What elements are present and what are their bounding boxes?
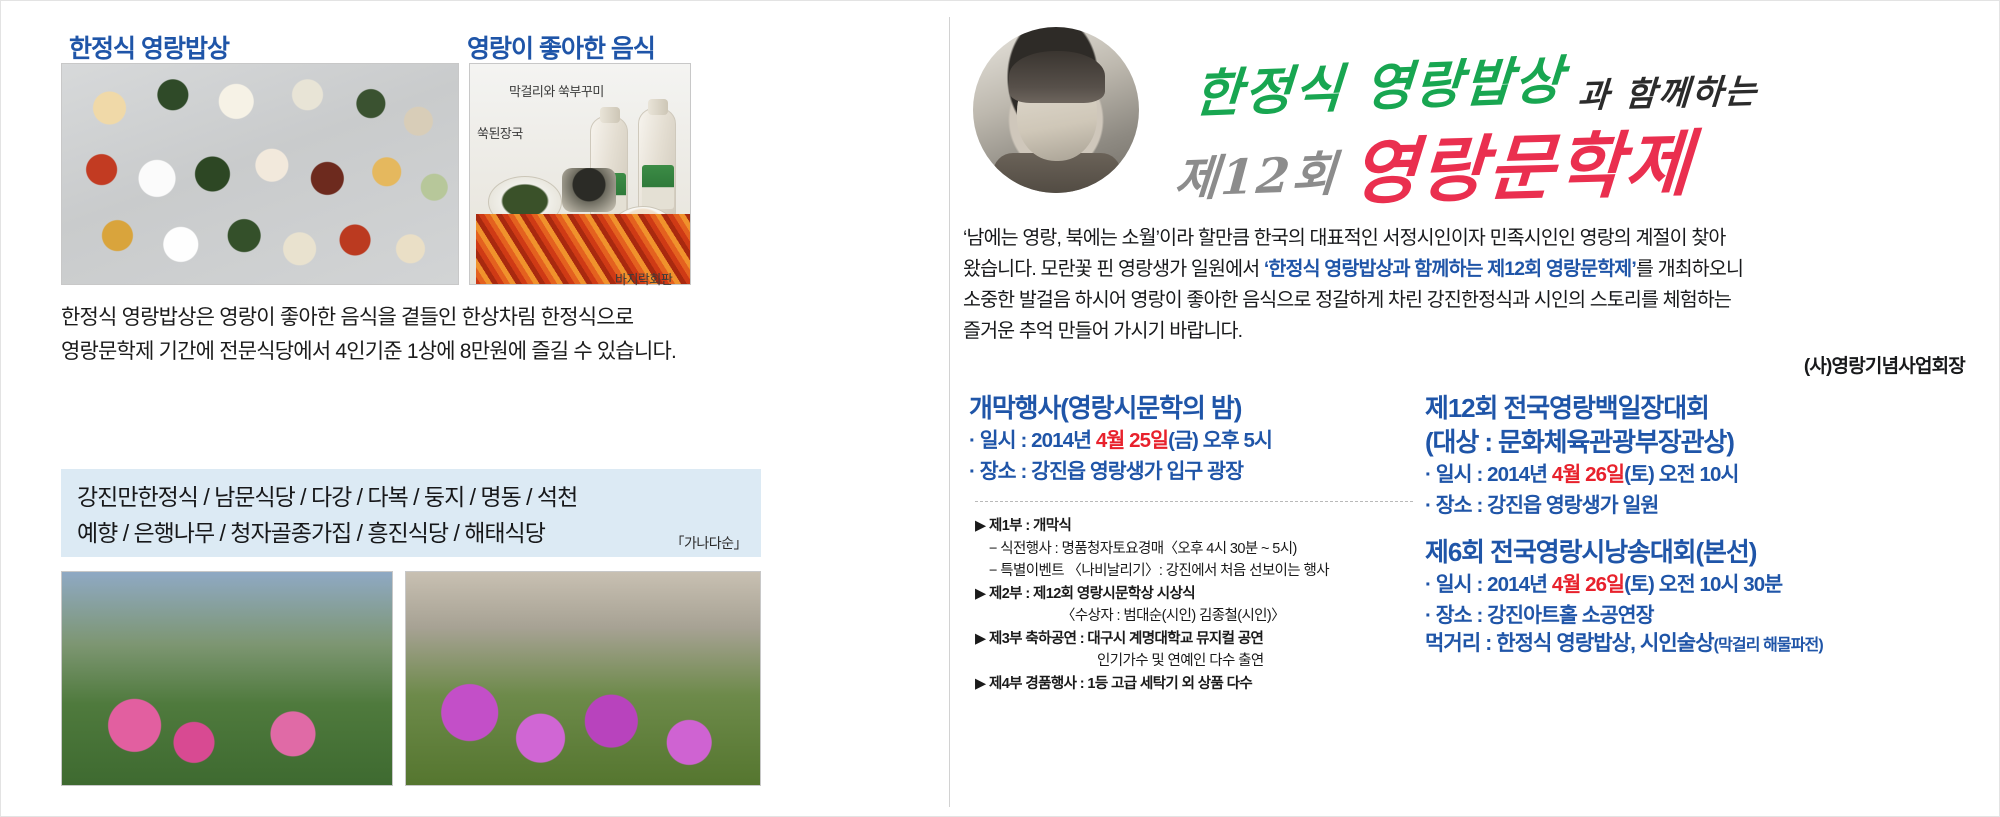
recital-event-title: 제6회 전국영랑시낭송대회(본선): [1425, 535, 1981, 569]
heading-favorite-food: 영랑이 좋아한 음식: [467, 29, 655, 65]
events-column-right: 제12회 전국영랑백일장대회 (대상 : 문화체육관광부장관상) · 일시 : …: [1425, 391, 1981, 631]
program-item: 〈수상자 : 범대순(시인) 김종철(시인)〉: [975, 605, 1427, 628]
portrait-hair: [1009, 51, 1105, 103]
contest-datetime-prefix: · 일시 : 2014년: [1425, 463, 1552, 486]
restaurant-list-box: 강진만한정식 / 남문식당 / 다강 / 다복 / 둥지 / 명동 / 석천 예…: [61, 469, 761, 557]
ssuk-pancake-icon: [562, 168, 616, 212]
food-note-main: 먹거리 : 한정식 영랑밥상, 시인술상: [1425, 632, 1714, 655]
intro-line-2-suffix: 를 개최하오니: [1636, 258, 1743, 280]
program-item: 인기가수 및 연예인 다수 출연: [975, 650, 1427, 673]
program-item: − 특별이벤트 〈나비날리기〉: 강진에서 처음 선보이는 행사: [975, 560, 1427, 583]
contest-datetime-suffix: (토) 오전 10시: [1624, 463, 1738, 486]
festival-title-ordinal: 제12회: [1172, 134, 1341, 210]
intro-line-3: 소중한 발걸음 하시어 영랑이 좋아한 음식으로 정갈하게 차린 강진한정식과 …: [963, 285, 1985, 316]
program-item: − 식전행사 : 명품청자토요경매〈오후 4시 30분 ~ 5시): [975, 538, 1427, 561]
opening-datetime-prefix: · 일시 : 2014년: [969, 429, 1096, 452]
intro-paragraph-block: ‘남에는 영랑, 북에는 소월’이라 할만큼 한국의 대표적인 서정시인이자 민…: [963, 223, 1985, 347]
intro-line-2-prefix: 왔습니다. 모란꽃 핀 영랑생가 일원에서: [963, 258, 1264, 280]
recital-datetime-prefix: · 일시 : 2014년: [1425, 573, 1552, 596]
caption-makgeolli: 막걸리와 쑥부꾸미: [509, 81, 604, 100]
left-panel: 한정식 영랑밥상 영랑이 좋아한 음식 막걸리와 쑥부꾸미 쑥된장국 바지락회판…: [1, 1, 971, 817]
organization-signature: (사)영랑기념사업회장: [1804, 351, 1965, 378]
program-item: ▶ 제2부 : 제12회 영랑시문학상 시상식: [975, 583, 1427, 606]
opening-event-venue: · 장소 : 강진읍 영랑생가 입구 광장: [969, 456, 1419, 487]
recital-datetime-date: 4월 26일: [1552, 573, 1624, 596]
program-item: ▶ 제4부 경품행사 : 1등 고급 세탁기 외 상품 다수: [975, 673, 1427, 696]
contest-event-datetime: · 일시 : 2014년 4월 26일(토) 오전 10시: [1425, 459, 1981, 490]
program-list: ▶ 제1부 : 개막식 − 식전행사 : 명품청자토요경매〈오후 4시 30분 …: [975, 515, 1427, 695]
opening-datetime-suffix: (금) 오후 5시: [1168, 429, 1272, 452]
description-block: 한정식 영랑밥상은 영랑이 좋아한 음식을 곁들인 한상차림 한정식으로 영랑문…: [61, 301, 761, 369]
intro-line-1-text: ‘남에는 영랑, 북에는 소월’이라 할만큼 한국의 대표적인 서정시인이자 민…: [963, 227, 1725, 249]
intro-line-4: 즐거운 추억 만들어 가시기 바랍니다.: [963, 316, 1985, 347]
festival-title-block: 한정식 영랑밥상과 함께하는 제12회영랑문학제: [1157, 31, 1987, 201]
opening-event-title: 개막행사(영랑시문학의 밤): [969, 391, 1419, 425]
contest-event-venue: · 장소 : 강진읍 영랑생가 일원: [1425, 490, 1981, 521]
festival-title-line-2: 제12회영랑문학제: [1175, 109, 1693, 214]
intro-line-1: ‘남에는 영랑, 북에는 소월’이라 할만큼 한국의 대표적인 서정시인이자 민…: [963, 223, 1985, 254]
intro-highlight-festival-name: ‘한정식 영랑밥상과 함께하는 제12회 영랑문학제’: [1264, 258, 1636, 280]
photo-korean-table-spread: [61, 63, 459, 285]
contest-event-title-line-2: (대상 : 문화체육관광부장관상): [1425, 425, 1981, 459]
contest-datetime-date: 4월 26일: [1552, 463, 1624, 486]
events-column-left: 개막행사(영랑시문학의 밤) · 일시 : 2014년 4월 25일(금) 오후…: [969, 391, 1419, 487]
restaurant-list-line-2: 예향 / 은행나무 / 청자골종가집 / 흥진식당 / 해태식당: [77, 515, 745, 551]
contest-event-title-line-1: 제12회 전국영랑백일장대회: [1425, 391, 1981, 425]
food-note-detail: (막걸리 해물파전): [1714, 637, 1823, 654]
recital-datetime-suffix: (토) 오전 10시 30분: [1624, 573, 1782, 596]
right-panel: 한정식 영랑밥상과 함께하는 제12회영랑문학제 ‘남에는 영랑, 북에는 소월…: [957, 1, 2000, 817]
photo-festival-garden: [61, 571, 393, 786]
description-line-1: 한정식 영랑밥상은 영랑이 좋아한 음식을 곁들인 한상차림 한정식으로: [61, 301, 761, 335]
caption-bajirak: 바지락회판: [615, 269, 672, 288]
program-item: ▶ 제3부 축하공연 : 대구시 계명대학교 뮤지컬 공연: [975, 628, 1427, 651]
opening-event-datetime: · 일시 : 2014년 4월 25일(금) 오후 5시: [969, 425, 1419, 456]
festival-poster: 한정식 영랑밥상 영랑이 좋아한 음식 막걸리와 쑥부꾸미 쑥된장국 바지락회판…: [0, 0, 2000, 817]
panel-divider: [949, 17, 950, 807]
restaurant-list-line-1: 강진만한정식 / 남문식당 / 다강 / 다복 / 둥지 / 명동 / 석천: [77, 479, 745, 515]
festival-title-red-text: 영랑문학제: [1349, 105, 1697, 219]
description-line-2: 영랑문학제 기간에 전문식당에서 4인기준 1상에 8만원에 즐길 수 있습니다…: [61, 335, 761, 369]
caption-doenjang: 쑥된장국: [477, 123, 523, 142]
program-item: ▶ 제1부 : 개막식: [975, 515, 1427, 538]
opening-datetime-date: 4월 25일: [1096, 429, 1168, 452]
section-dashed-divider: [975, 501, 1413, 502]
heading-hanjeongsik: 한정식 영랑밥상: [69, 29, 229, 65]
intro-line-2: 왔습니다. 모란꽃 핀 영랑생가 일원에서 ‘한정식 영랑밥상과 함께하는 제1…: [963, 254, 1985, 285]
recital-event-datetime: · 일시 : 2014년 4월 26일(토) 오전 10시 30분: [1425, 569, 1981, 600]
poet-portrait-photo: [973, 27, 1139, 193]
food-availability-note: 먹거리 : 한정식 영랑밥상, 시인술상(막걸리 해물파전): [1425, 627, 1823, 657]
restaurant-order-note: 「가나다순」: [670, 533, 747, 553]
photo-festival-visitors: [405, 571, 761, 786]
